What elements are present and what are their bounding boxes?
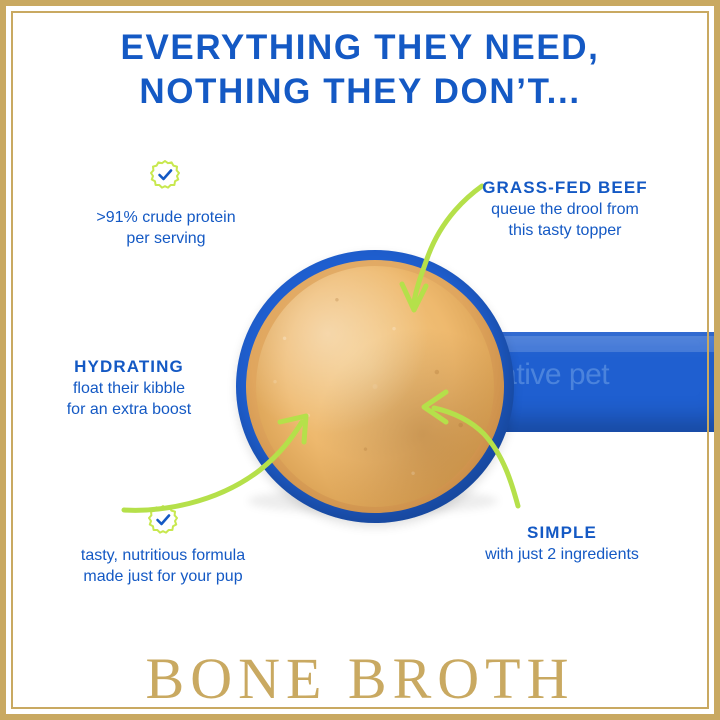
callout-protein-line-1: >91% crude protein [62,207,270,228]
callout-protein: >91% crude protein per serving [62,207,270,249]
callout-protein-line-2: per serving [62,228,270,249]
callout-simple: SIMPLE with just 2 ingredients [452,522,672,565]
product-name: BONE BROTH [0,645,720,712]
callout-beef-line-2: this tasty topper [450,220,680,241]
callout-beef-title: GRASS-FED BEEF [450,177,680,199]
page-title: EVERYTHING THEY NEED, NOTHING THEY DON’T… [0,26,720,114]
callout-tasty-formula: tasty, nutritious formula made just for … [48,545,278,587]
callout-hydrating: HYDRATING float their kibble for an extr… [34,356,224,420]
callout-hydrating-line-2: for an extra boost [34,399,224,420]
check-badge-protein [150,160,180,190]
headline-line-2: NOTHING THEY DON’T... [0,70,720,114]
callout-simple-title: SIMPLE [452,522,672,544]
product-infographic: EVERYTHING THEY NEED, NOTHING THEY DON’T… [0,0,720,720]
callout-grass-fed-beef: GRASS-FED BEEF queue the drool from this… [450,177,680,241]
callout-simple-line-1: with just 2 ingredients [452,544,672,565]
callout-hydrating-line-1: float their kibble [34,378,224,399]
callout-beef-line-1: queue the drool from [450,199,680,220]
callout-hydrating-title: HYDRATING [34,356,224,378]
arrow-to-simple [400,378,530,518]
callout-tasty-line-1: tasty, nutritious formula [48,545,278,566]
rosette-badge-icon [150,160,180,190]
headline-line-1: EVERYTHING THEY NEED, [121,28,600,67]
callout-tasty-line-2: made just for your pup [48,566,278,587]
